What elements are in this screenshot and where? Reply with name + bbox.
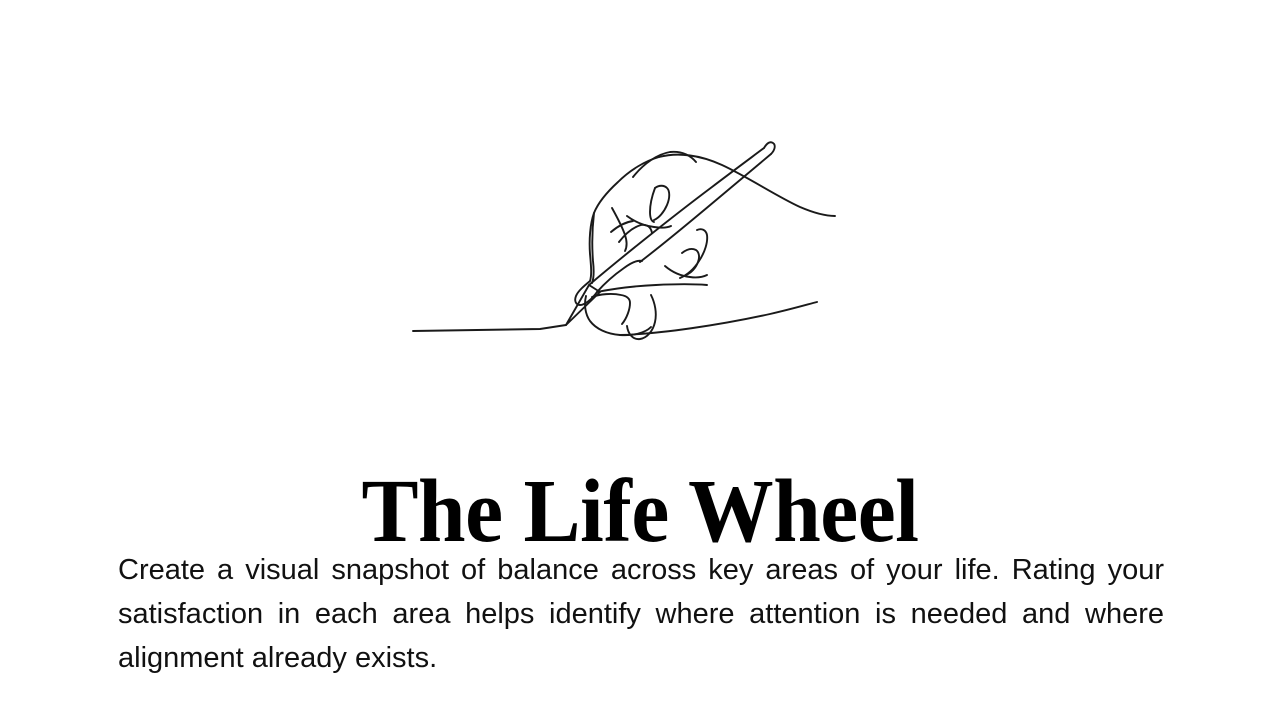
folded-finger-lower-crease — [665, 266, 707, 277]
pinky-nail — [592, 294, 630, 324]
slide-root: The Life Wheel Create a visual snapshot … — [0, 0, 1280, 720]
folded-finger-nail-upper — [654, 186, 669, 220]
hand-outer-edge — [592, 213, 594, 283]
pinky-contour — [585, 296, 651, 335]
hand-holding-pencil-illustration — [0, 0, 1280, 370]
folded-finger-nail-upper-inner — [650, 188, 655, 222]
drawn-baseline-stroke — [413, 325, 566, 331]
pencil-end-cap — [764, 142, 775, 154]
palm-lower-edge — [597, 284, 707, 292]
line-art-strokes — [413, 142, 835, 339]
pencil-body-lower-edge — [589, 148, 764, 285]
line-art-svg — [0, 0, 1280, 370]
hand-back-contour — [590, 157, 659, 281]
slide-description: Create a visual snapshot of balance acro… — [118, 548, 1164, 680]
page-title: The Life Wheel — [32, 464, 1248, 560]
wrist-line — [620, 302, 817, 335]
finger-knuckle-crease — [627, 216, 671, 228]
